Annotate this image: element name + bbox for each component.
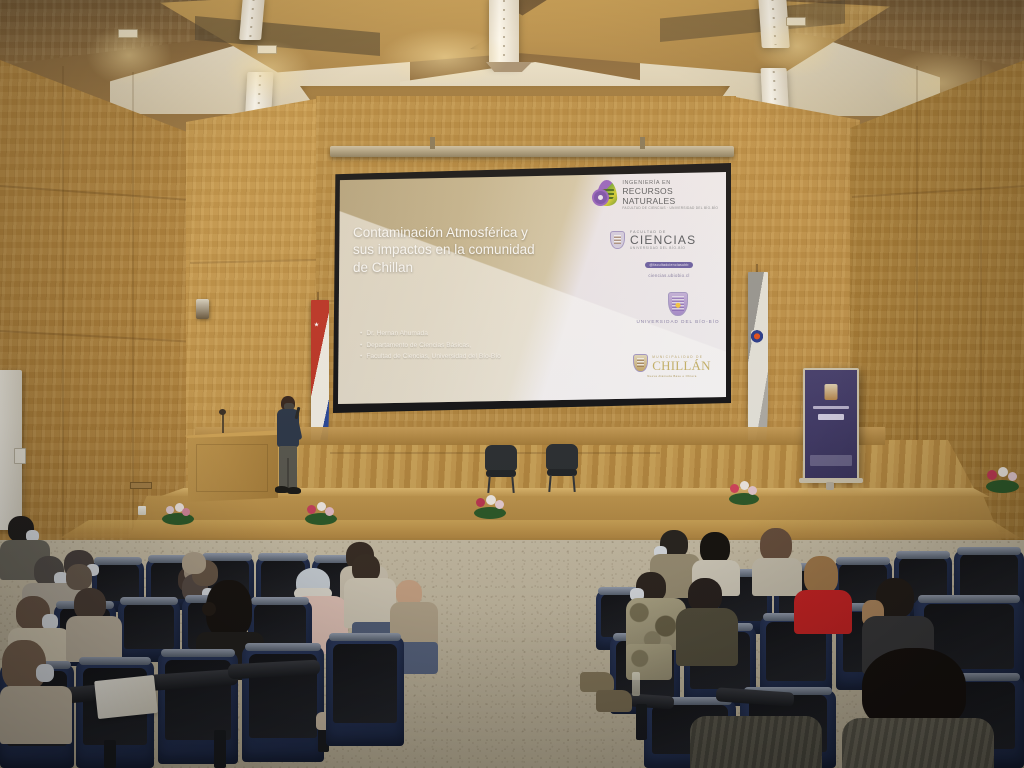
logo-chillan-tagline: Nueva Alameda Base e Obrera <box>614 374 726 378</box>
logo-ciencias-name: CIENCIAS <box>630 234 696 246</box>
water-bottle <box>632 672 640 696</box>
wall-left <box>0 60 208 560</box>
chair-leg <box>548 475 551 492</box>
speaker-leg-split <box>287 458 289 488</box>
logo-ciencias-social: @facultadcienciasubb <box>645 262 692 268</box>
audience-shoulders <box>344 578 396 628</box>
wall-left-seam-v1 <box>62 66 64 546</box>
seat-headrest-cap <box>120 597 177 605</box>
flower-arrangement <box>727 480 761 506</box>
speaker-shoe <box>287 487 301 494</box>
ceiling-column-left <box>239 0 265 40</box>
flower-bloom <box>730 484 739 493</box>
seat-headrest-cap <box>896 551 949 559</box>
banner-foot-leg <box>826 482 834 490</box>
papers-on-lap <box>94 675 158 719</box>
wall-outlet-left[interactable] <box>130 482 152 489</box>
flower-bloom <box>998 467 1008 477</box>
audience-member <box>690 716 820 768</box>
logo-ingenieria-line3: FACULTAD DE CIENCIAS · UNIVERSIDAD DEL B… <box>622 206 722 210</box>
speaker-presenter <box>272 396 304 500</box>
logo-ciencias-website: ciencias.ubiobio.cl <box>610 273 726 278</box>
ubb-shield-icon <box>668 292 688 316</box>
roll-up-banner <box>803 368 859 480</box>
logo-universidad-name: UNIVERSIDAD DEL BÍO-BÍO <box>626 319 726 324</box>
flower-arrangement <box>303 500 339 526</box>
seat-headrest-cap <box>161 649 235 657</box>
slide-bullet-list: Dr. Hernan Ahumada Departamento de Cienc… <box>360 328 575 363</box>
wall-right-seam-v2 <box>980 60 982 530</box>
flower-bloom <box>182 508 190 516</box>
ceiling-column-center <box>489 0 519 66</box>
logo-ingenieria-recursos-naturales: INGENIERÍA EN RECURSOS NATURALES FACULTA… <box>594 180 722 210</box>
audience-head <box>760 528 792 562</box>
seat-headrest-cap <box>258 553 308 561</box>
auditorium-photo: Contaminación Atmosférica y sus impactos… <box>0 0 1024 768</box>
ubb-crest-icon <box>610 231 625 249</box>
screen-mount-bracket <box>430 137 435 149</box>
slide-title: Contaminación Atmosférica y sus impactos… <box>353 224 563 276</box>
seat-headrest-cap <box>245 643 320 651</box>
water-drop-gear-icon <box>594 180 618 210</box>
logo-ingenieria-line2: RECURSOS NATURALES <box>622 186 722 206</box>
slide-title-line-2: sus impactos en la comunidad <box>353 241 563 258</box>
seat-cushion <box>333 644 397 723</box>
logo-municipalidad-chillan: MUNICIPALIDAD DE CHILLÁN Nueva Alameda B… <box>614 354 726 378</box>
banner-subheading-text <box>818 414 844 420</box>
logo-facultad-ciencias: FACULTAD DE CIENCIAS UNIVERSIDAD DEL BÍO… <box>610 230 726 278</box>
stage-chair-1 <box>485 445 517 493</box>
audience-shoulders <box>690 716 822 768</box>
lectern-microphone-icon <box>222 413 224 433</box>
logo-universidad-biobio: UNIVERSIDAD DEL BÍO-BÍO <box>626 292 726 324</box>
combat-boot <box>580 672 614 692</box>
seat-pedestal <box>636 704 647 740</box>
audience-shoulders <box>842 718 994 768</box>
seat-headrest-cap <box>957 547 1021 555</box>
banner-logo-icon <box>825 384 838 400</box>
wall-speaker-icon <box>196 299 209 319</box>
flower-bloom <box>495 500 504 509</box>
screen-mount-bracket-2 <box>640 137 645 149</box>
slide-bullet-item: Departamento de Ciencias Básicas, <box>360 340 575 352</box>
flower-bloom <box>987 470 997 480</box>
audience-head <box>66 564 92 590</box>
flower-arrangement <box>984 466 1020 494</box>
downlight-2 <box>257 45 277 54</box>
lectern-front-panel <box>196 444 268 492</box>
flower-bloom <box>476 498 485 507</box>
seat-cushion <box>124 604 175 649</box>
seat-headrest-cap <box>329 633 401 641</box>
stage-step <box>60 520 1020 538</box>
slide-title-line-3: de Chillan <box>353 259 563 276</box>
audience-member-foreground <box>842 648 992 768</box>
combat-boot <box>596 690 632 712</box>
audience-head <box>804 556 838 594</box>
audience-member-red <box>794 556 852 648</box>
flower-arrangement <box>160 500 196 526</box>
chair-back <box>546 444 578 470</box>
slide-title-line-1: Contaminación Atmosférica y <box>353 224 563 241</box>
seat-pedestal <box>214 730 226 768</box>
seat-cushion <box>960 554 1017 600</box>
audience-member <box>66 588 122 656</box>
flower-arrangement <box>472 494 508 520</box>
wall-switch-plate[interactable] <box>14 448 26 464</box>
flower-bloom <box>748 486 757 495</box>
seat-headrest-cap <box>79 657 151 665</box>
chair-leg <box>487 476 490 493</box>
chair-leg <box>572 475 575 492</box>
audience-member <box>676 578 738 688</box>
presentation-slide: Contaminación Atmosférica y sus impactos… <box>338 172 726 404</box>
audience-member <box>752 528 800 592</box>
flower-bloom <box>166 506 174 514</box>
screen-roller-casing <box>330 146 734 157</box>
flower-bloom <box>325 507 334 516</box>
hair-bun <box>202 602 216 616</box>
wall-left-seam-v2 <box>132 72 134 548</box>
institutional-flag-emblem-icon <box>751 330 763 344</box>
audience-shoulders <box>794 590 852 634</box>
audience-shoulders <box>0 686 72 744</box>
slide-bullet-item: Facultad de Ciencias, Universidad del Bí… <box>360 351 575 363</box>
lectern-mic-head-icon <box>219 409 226 415</box>
chair-back <box>485 445 517 471</box>
face-mask <box>36 664 54 682</box>
slide-bullet-item: Dr. Hernan Ahumada <box>360 328 575 340</box>
chillan-crest-icon <box>633 354 648 372</box>
stage-chair-2 <box>546 444 578 492</box>
foliage <box>162 513 194 525</box>
flower-bloom <box>1008 472 1017 481</box>
seat-pedestal <box>104 740 116 768</box>
audience-head <box>688 578 722 612</box>
foliage <box>729 493 759 505</box>
foliage <box>474 507 506 519</box>
downlight-3 <box>786 17 806 26</box>
foliage <box>986 480 1019 493</box>
downlight-1 <box>118 29 138 38</box>
audience-head <box>182 552 206 574</box>
flower-bloom <box>307 505 316 514</box>
seat-headrest-cap <box>918 595 1019 603</box>
audience-member <box>0 640 70 740</box>
audience-shoulders <box>66 616 122 662</box>
seat[interactable] <box>326 636 404 746</box>
banner-footer-text <box>810 455 852 466</box>
banner-heading-text <box>813 406 849 409</box>
water-glass <box>138 506 146 515</box>
logo-chillan-name: CHILLÁN <box>652 359 710 372</box>
chair-leg <box>511 476 514 493</box>
audience-shoulders <box>676 608 738 666</box>
